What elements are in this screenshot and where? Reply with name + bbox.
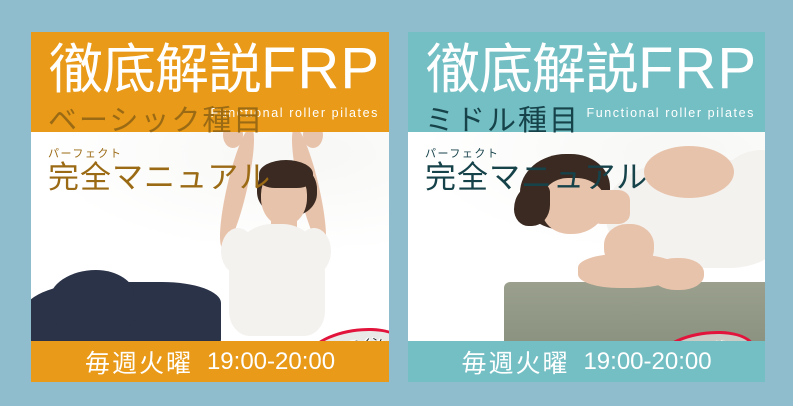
schedule-day-basic: 毎週火曜 xyxy=(85,344,193,380)
manual-ruby-middle: パーフェクト xyxy=(425,148,648,160)
course-card-basic[interactable]: 徹底解説FRP Functional roller pilates ベーシック種… xyxy=(31,32,389,382)
course-kind-middle: ミドル種目 xyxy=(425,104,648,138)
card-copy-basic: ベーシック種目 パーフェクト 完全マニュアル xyxy=(48,104,271,196)
course-card-middle[interactable]: 徹底解説FRP Functional roller pilates ミドル種目 … xyxy=(408,32,765,382)
schedule-time-middle: 19:00-20:00 xyxy=(583,348,711,376)
photo-hand xyxy=(652,258,704,290)
header-title-acronym: FRP xyxy=(638,36,757,101)
manual-ruby-basic: パーフェクト xyxy=(48,148,271,160)
poster-pair: 徹底解説FRP Functional roller pilates ベーシック種… xyxy=(0,0,793,406)
schedule-time-basic: 19:00-20:00 xyxy=(207,348,335,376)
photo-knee xyxy=(49,270,135,328)
header-title-basic: 徹底解説FRP xyxy=(49,38,380,101)
photo-sleeve-right xyxy=(297,228,331,274)
header-title-middle: 徹底解説FRP xyxy=(426,38,757,101)
header-title-jp: 徹底解説 xyxy=(49,40,261,100)
card-footer-middle: 毎週火曜 19:00-20:00 xyxy=(408,341,765,382)
card-footer-basic: 毎週火曜 19:00-20:00 xyxy=(31,341,389,382)
card-copy-middle: ミドル種目 パーフェクト 完全マニュアル xyxy=(425,104,648,196)
photo-shoulder xyxy=(644,146,734,198)
header-title-acronym: FRP xyxy=(261,36,380,101)
course-kind-basic: ベーシック種目 xyxy=(48,104,271,138)
manual-title-basic: 完全マニュアル xyxy=(48,160,271,196)
header-title-jp: 徹底解説 xyxy=(426,40,638,100)
photo-upper-arm xyxy=(604,224,654,270)
schedule-day-middle: 毎週火曜 xyxy=(461,344,569,380)
manual-title-middle: 完全マニュアル xyxy=(425,160,648,196)
photo-sleeve-left xyxy=(221,228,255,274)
